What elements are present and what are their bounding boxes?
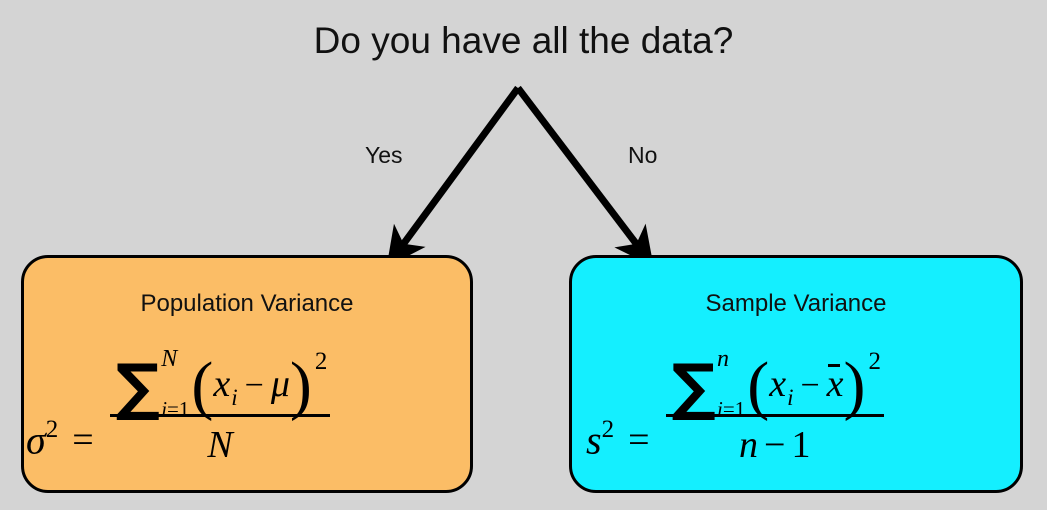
summation-index-start: 1 xyxy=(735,397,746,421)
x-subscript-right: i xyxy=(787,385,793,411)
page-title: Do you have all the data? xyxy=(0,20,1047,62)
sample-variance-formula: s2 = ∑ n i=1 ( xi−x ) xyxy=(572,332,1034,492)
sample-denominator: n−1 xyxy=(666,417,885,467)
summation-index-eq: = xyxy=(167,397,179,421)
arrow-no xyxy=(518,88,641,250)
population-numerator: ∑ N i=1 ( xi−μ ) 2 xyxy=(110,357,331,415)
open-paren-left: ( xyxy=(191,362,213,410)
sigma-symbol: σ xyxy=(26,418,46,463)
close-paren-left: ) xyxy=(290,362,312,410)
x-subscript-left: i xyxy=(231,385,237,411)
summation-icon: ∑ xyxy=(116,359,161,415)
population-fraction: ∑ N i=1 ( xi−μ ) 2 N xyxy=(110,357,331,468)
summation-lower-limit: i=1 xyxy=(717,398,745,420)
open-paren-right: ( xyxy=(747,362,769,410)
x-bar-symbol: x xyxy=(827,362,844,406)
sample-fraction: ∑ n i=1 ( xi−x ) 2 n−1 xyxy=(666,357,885,468)
summation-lower-limit: i=1 xyxy=(161,398,189,420)
x-variable-left: x xyxy=(213,362,230,406)
x-variable-right: x xyxy=(769,362,786,406)
deviation-term-left: xi−μ xyxy=(213,362,290,406)
power-right: 2 xyxy=(869,348,882,376)
summation-index-eq: = xyxy=(723,397,735,421)
diagram-canvas: Do you have all the data? Yes No Populat… xyxy=(0,0,1047,510)
summation-icon: ∑ xyxy=(672,359,717,415)
x-bar-letter: x xyxy=(827,363,844,405)
deviation-term-right: xi−x xyxy=(769,362,843,406)
population-variance-box[interactable]: Population Variance σ2 = ∑ N i=1 ( xyxy=(21,255,473,493)
branch-label-yes: Yes xyxy=(365,142,403,169)
equals-sign-right: = xyxy=(628,418,649,462)
sigma-exponent: 2 xyxy=(46,416,59,443)
summation-limits-left: N i=1 xyxy=(161,361,189,408)
summation-upper-limit: n xyxy=(717,347,745,372)
minus-sign-right: − xyxy=(800,367,819,405)
denominator-N: N xyxy=(207,423,232,467)
branch-label-no: No xyxy=(628,142,657,169)
population-variance-formula: σ2 = ∑ N i=1 ( xi−μ ) xyxy=(24,332,472,492)
power-left: 2 xyxy=(315,348,328,376)
sample-variance-heading: Sample Variance xyxy=(572,290,1020,318)
mu-symbol: μ xyxy=(271,362,290,406)
summation-group-right: ∑ n i=1 xyxy=(672,357,746,413)
denominator-minus: − xyxy=(758,423,791,467)
s-squared-lhs: s2 xyxy=(586,419,614,460)
close-paren-right: ) xyxy=(844,362,866,410)
summation-limits-right: n i=1 xyxy=(717,361,745,408)
equals-sign-left: = xyxy=(72,418,93,462)
denominator-n: n xyxy=(739,423,758,467)
minus-sign-left: − xyxy=(245,367,264,405)
s-exponent: 2 xyxy=(602,416,615,443)
population-denominator: N xyxy=(110,417,331,467)
summation-index-start: 1 xyxy=(179,397,190,421)
sample-variance-box[interactable]: Sample Variance s2 = ∑ n i=1 ( xyxy=(569,255,1023,493)
denominator-one: 1 xyxy=(791,423,810,467)
overbar-icon xyxy=(828,364,840,367)
sample-numerator: ∑ n i=1 ( xi−x ) 2 xyxy=(666,357,885,415)
population-variance-heading: Population Variance xyxy=(24,290,470,318)
s-symbol: s xyxy=(586,418,602,463)
summation-upper-limit: N xyxy=(161,347,189,372)
arrow-yes xyxy=(399,88,518,250)
summation-group-left: ∑ N i=1 xyxy=(116,357,190,413)
sigma-squared-lhs: σ2 xyxy=(26,419,58,460)
